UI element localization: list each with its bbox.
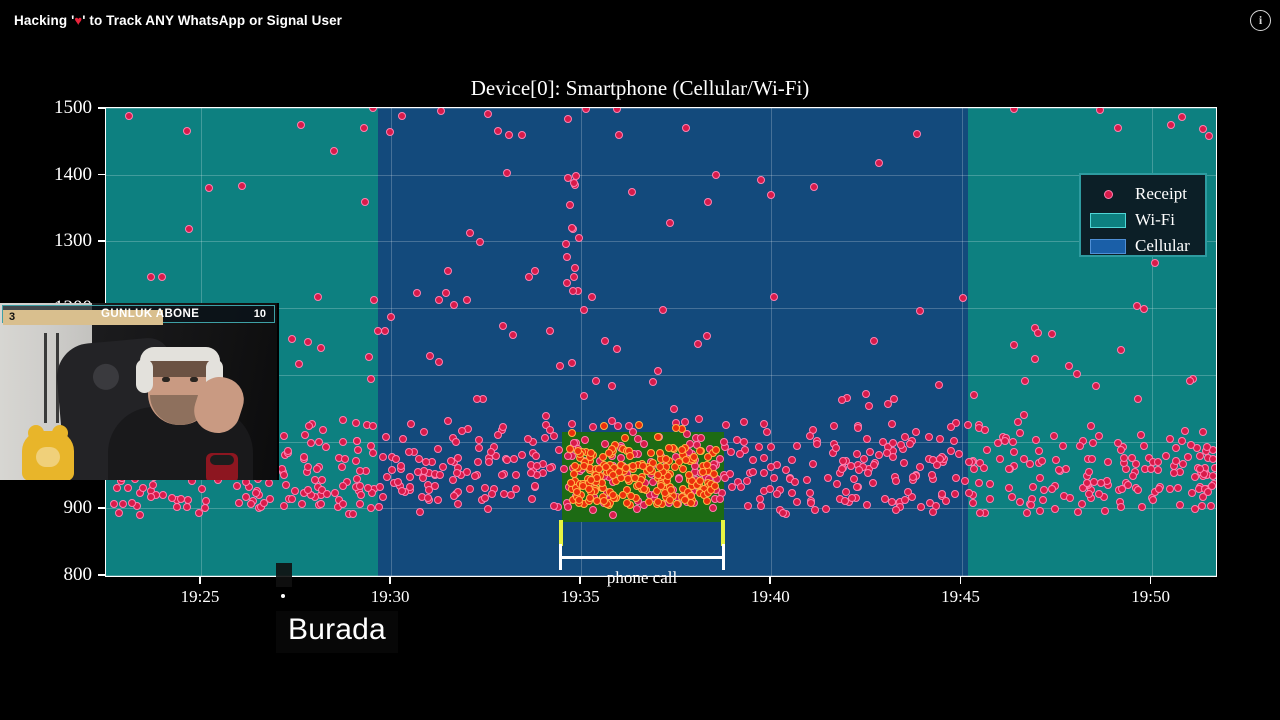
- scatter-point: [487, 448, 495, 456]
- scatter-point: [505, 131, 513, 139]
- scatter-point: [532, 452, 540, 460]
- scatter-point: [952, 474, 960, 482]
- scatter-point: [892, 506, 900, 514]
- scatter-point: [1074, 508, 1082, 516]
- cam-teddy-ear-right: [52, 425, 68, 441]
- scatter-point: [712, 171, 720, 179]
- scatter-point: [654, 471, 662, 479]
- scatter-point: [602, 463, 610, 471]
- scatter-point: [981, 426, 989, 434]
- scatter-point: [1178, 437, 1186, 445]
- scatter-point: [1101, 507, 1109, 515]
- scatter-point: [1172, 457, 1180, 465]
- scatter-point: [1031, 355, 1039, 363]
- bracket-tick-left: [559, 544, 562, 570]
- scatter-point: [233, 482, 241, 490]
- y-axis-tick-mark: [98, 107, 105, 109]
- scatter-point: [862, 390, 870, 398]
- scatter-point: [323, 490, 331, 498]
- scatter-point: [1009, 438, 1017, 446]
- scatter-point: [356, 467, 364, 475]
- scatter-point: [313, 465, 321, 473]
- legend-marker-receipt: [1089, 190, 1127, 199]
- scatter-point: [450, 492, 458, 500]
- scatter-point: [168, 494, 176, 502]
- scatter-point: [365, 353, 373, 361]
- x-axis-tick-mark: [199, 577, 201, 584]
- scatter-point: [330, 147, 338, 155]
- scatter-point: [838, 396, 846, 404]
- scatter-point: [434, 496, 442, 504]
- scatter-point: [635, 421, 643, 429]
- scatter-point: [1048, 485, 1056, 493]
- scatter-point: [352, 419, 360, 427]
- scatter-point: [367, 375, 375, 383]
- video-title-prefix: Hacking ': [14, 13, 74, 28]
- scatter-point: [582, 107, 590, 113]
- scatter-point: [1032, 436, 1040, 444]
- scatter-point: [426, 352, 434, 360]
- scatter-point: [833, 480, 841, 488]
- scatter-point: [1016, 498, 1024, 506]
- scatter-point: [364, 484, 372, 492]
- scatter-point: [1088, 455, 1096, 463]
- scatter-point: [349, 510, 357, 518]
- scatter-point: [369, 422, 377, 430]
- bracket-stub-left: [559, 520, 563, 546]
- scatter-point: [1155, 485, 1163, 493]
- scatter-point: [416, 508, 424, 516]
- x-axis-tick-mark: [769, 577, 771, 584]
- caption-text: Burada: [288, 613, 386, 646]
- scatter-point: [854, 424, 862, 432]
- cam-headphone-cup-left: [136, 359, 153, 393]
- scatter-point: [1027, 501, 1035, 509]
- scatter-point: [589, 506, 597, 514]
- scatter-point: [1203, 443, 1211, 451]
- cam-teddy-bear: [22, 431, 74, 480]
- scatter-point: [147, 493, 155, 501]
- scatter-point: [782, 466, 790, 474]
- scatter-point: [587, 449, 595, 457]
- scatter-point: [556, 362, 564, 370]
- scatter-point: [1179, 460, 1187, 468]
- scatter-point: [667, 486, 675, 494]
- scatter-point: [399, 435, 407, 443]
- scatter-point: [388, 466, 396, 474]
- scatter-point: [704, 198, 712, 206]
- scatter-point: [413, 289, 421, 297]
- scatter-point: [398, 112, 406, 120]
- scatter-point: [654, 498, 662, 506]
- scatter-point: [436, 471, 444, 479]
- scatter-point: [301, 431, 309, 439]
- scatter-point: [773, 490, 781, 498]
- legend-label-cellular: Cellular: [1127, 236, 1190, 256]
- scatter-point: [1076, 442, 1084, 450]
- scatter-point: [498, 471, 506, 479]
- scatter-point: [1138, 503, 1146, 511]
- scatter-point: [925, 433, 933, 441]
- scatter-point: [473, 395, 481, 403]
- scatter-point: [1134, 486, 1142, 494]
- scatter-point: [666, 219, 674, 227]
- scatter-point: [1204, 488, 1212, 496]
- scatter-point: [531, 482, 539, 490]
- scatter-point: [976, 509, 984, 517]
- scatter-point: [595, 465, 603, 473]
- scatter-point: [555, 446, 563, 454]
- y-axis-tick-label: 800: [2, 564, 92, 586]
- scatter-point: [524, 435, 532, 443]
- scatter-point: [975, 479, 983, 487]
- scatter-point: [964, 421, 972, 429]
- scatter-point: [609, 471, 617, 479]
- scatter-point: [656, 463, 664, 471]
- scatter-point: [892, 477, 900, 485]
- scatter-point: [300, 453, 308, 461]
- scatter-point: [398, 487, 406, 495]
- x-axis-tick-mark: [1150, 577, 1152, 584]
- scatter-point: [475, 444, 483, 452]
- scatter-point: [1010, 448, 1018, 456]
- scatter-point: [314, 293, 322, 301]
- scatter-point: [678, 446, 686, 454]
- y-axis-tick-label: 900: [2, 497, 92, 519]
- scatter-point: [452, 438, 460, 446]
- scatter-point: [682, 456, 690, 464]
- scatter-point: [613, 345, 621, 353]
- y-axis-tick-mark: [98, 574, 105, 576]
- bracket-tick-right: [722, 544, 725, 570]
- subscriber-goal-banner: 3 GUNLUK ABONE 10: [2, 305, 275, 323]
- video-title-suffix: ' to Track ANY WhatsApp or Signal User: [82, 13, 342, 28]
- y-axis-tick-label: 1300: [2, 230, 92, 252]
- scatter-point: [1149, 496, 1157, 504]
- scatter-point: [1066, 494, 1074, 502]
- bracket-stub-right: [721, 520, 725, 546]
- scatter-point: [449, 476, 457, 484]
- scatter-point: [488, 490, 496, 498]
- scatter-point: [755, 443, 763, 451]
- scatter-point: [720, 438, 728, 446]
- scatter-point: [609, 511, 617, 519]
- scatter-point: [1209, 455, 1217, 463]
- scatter-point: [740, 438, 748, 446]
- legend-label-receipt: Receipt: [1127, 184, 1187, 204]
- cam-eye-right: [190, 377, 198, 382]
- scatter-point: [626, 452, 634, 460]
- scatter-point: [435, 296, 443, 304]
- scatter-point: [405, 448, 413, 456]
- scatter-point: [810, 183, 818, 191]
- scatter-point: [916, 307, 924, 315]
- scatter-point: [307, 439, 315, 447]
- scatter-point: [756, 495, 764, 503]
- scatter-point: [1181, 427, 1189, 435]
- scatter-point: [360, 124, 368, 132]
- scatter-point: [629, 462, 637, 470]
- scatter-point: [1140, 305, 1148, 313]
- scatter-point: [955, 450, 963, 458]
- scatter-point: [560, 465, 568, 473]
- scatter-point: [546, 426, 554, 434]
- scatter-point: [475, 436, 483, 444]
- scatter-point: [647, 449, 655, 457]
- scatter-point: [657, 482, 665, 490]
- scatter-point: [339, 500, 347, 508]
- scatter-point: [830, 422, 838, 430]
- scatter-point: [1166, 435, 1174, 443]
- x-axis-tick-label: 19:45: [941, 587, 980, 607]
- scatter-point: [1065, 362, 1073, 370]
- scatter-point: [654, 367, 662, 375]
- bracket-bar: [559, 556, 725, 559]
- scatter-point: [367, 442, 375, 450]
- scatter-point: [1187, 441, 1195, 449]
- scatter-point: [484, 110, 492, 118]
- scatter-point: [444, 267, 452, 275]
- chart-legend: Receipt Wi-Fi Cellular: [1079, 173, 1207, 257]
- x-axis-tick-label: 19:35: [561, 587, 600, 607]
- cam-door-handle-left: [44, 333, 47, 423]
- scatter-point: [1211, 464, 1217, 472]
- scatter-point: [779, 509, 787, 517]
- scatter-point: [965, 458, 973, 466]
- scatter-point: [935, 381, 943, 389]
- scatter-point: [542, 412, 550, 420]
- x-axis-tick-label: 19:50: [1131, 587, 1170, 607]
- legend-item-receipt: Receipt: [1089, 181, 1197, 207]
- scatter-point: [382, 433, 390, 441]
- scatter-point: [1001, 437, 1009, 445]
- y-axis-tick-label: 1500: [2, 97, 92, 119]
- scatter-point: [284, 447, 292, 455]
- scatter-point: [1176, 501, 1184, 509]
- scatter-point: [906, 440, 914, 448]
- video-title-overlay: Hacking '♥' to Track ANY WhatsApp or Sig…: [14, 13, 342, 28]
- scatter-point: [288, 335, 296, 343]
- scatter-point: [125, 112, 133, 120]
- scatter-point: [531, 267, 539, 275]
- scatter-point: [1085, 468, 1093, 476]
- scatter-point: [1052, 456, 1060, 464]
- scatter-point: [128, 499, 136, 507]
- scatter-point: [1036, 474, 1044, 482]
- scatter-point: [568, 420, 576, 428]
- scatter-point: [447, 457, 455, 465]
- scatter-point: [562, 240, 570, 248]
- scatter-point: [1023, 509, 1031, 517]
- scatter-point: [736, 450, 744, 458]
- scatter-point: [317, 344, 325, 352]
- horizontal-gridline: [106, 108, 1216, 109]
- scatter-point: [510, 455, 518, 463]
- scatter-point: [357, 491, 365, 499]
- scatter-point: [970, 391, 978, 399]
- scatter-point: [875, 451, 883, 459]
- legend-item-wifi: Wi-Fi: [1089, 207, 1197, 233]
- scatter-point: [500, 490, 508, 498]
- phone-call-label: phone call: [559, 568, 725, 588]
- caption-dot: [281, 594, 285, 598]
- chart-title: Device[0]: Smartphone (Cellular/Wi-Fi): [0, 76, 1280, 101]
- scatter-point: [917, 503, 925, 511]
- scatter-point: [571, 264, 579, 272]
- scatter-point: [113, 484, 121, 492]
- scatter-point: [339, 416, 347, 424]
- y-axis-tick-mark: [98, 240, 105, 242]
- scatter-point: [503, 456, 511, 464]
- scatter-point: [839, 457, 847, 465]
- scatter-point: [986, 480, 994, 488]
- scatter-point: [280, 432, 288, 440]
- scatter-point: [1005, 484, 1013, 492]
- scatter-point: [407, 420, 415, 428]
- scatter-point: [356, 500, 364, 508]
- scatter-point: [1151, 259, 1159, 267]
- scatter-point: [897, 441, 905, 449]
- scatter-point: [1078, 500, 1086, 508]
- scatter-point: [600, 422, 608, 430]
- scatter-point: [124, 484, 132, 492]
- scatter-point: [936, 435, 944, 443]
- scatter-point: [640, 440, 648, 448]
- scatter-point: [1051, 505, 1059, 513]
- scatter-point: [601, 337, 609, 345]
- scatter-point: [685, 471, 693, 479]
- x-axis-tick-label: 19:40: [751, 587, 790, 607]
- scatter-point: [568, 224, 576, 232]
- scatter-point: [494, 127, 502, 135]
- scatter-point: [581, 436, 589, 444]
- scatter-point: [1034, 329, 1042, 337]
- scatter-point: [1196, 465, 1204, 473]
- caption-cursor-block: [276, 563, 292, 587]
- scatter-point: [158, 273, 166, 281]
- scatter-point: [1087, 422, 1095, 430]
- scatter-point: [1092, 382, 1100, 390]
- scatter-point: [770, 474, 778, 482]
- scatter-point: [1199, 125, 1207, 133]
- scatter-point: [621, 434, 629, 442]
- scatter-point: [760, 420, 768, 428]
- legend-marker-cellular: [1089, 239, 1127, 254]
- scatter-point: [1095, 490, 1103, 498]
- vertical-gridline: [962, 108, 963, 576]
- scatter-point: [494, 431, 502, 439]
- scatter-point: [721, 474, 729, 482]
- scatter-point: [1209, 472, 1217, 480]
- scatter-point: [442, 289, 450, 297]
- y-axis-tick-mark: [98, 507, 105, 509]
- scatter-point: [888, 498, 896, 506]
- horizontal-gridline: [106, 175, 1216, 176]
- scatter-point: [386, 128, 394, 136]
- x-axis-tick-label: 19:25: [181, 587, 220, 607]
- scatter-point: [690, 453, 698, 461]
- scatter-point: [1184, 453, 1192, 461]
- scatter-point: [564, 503, 572, 511]
- scatter-point: [853, 483, 861, 491]
- subscriber-goal-label: GUNLUK ABONE: [101, 308, 199, 320]
- scatter-point: [110, 500, 118, 508]
- scatter-point: [466, 485, 474, 493]
- scatter-point: [803, 476, 811, 484]
- scatter-point: [1128, 454, 1136, 462]
- scatter-point: [260, 499, 268, 507]
- scatter-point: [1036, 507, 1044, 515]
- caption-overlay: Burada: [276, 611, 398, 653]
- scatter-point: [811, 506, 819, 514]
- scatter-point: [1118, 485, 1126, 493]
- scatter-point: [564, 452, 572, 460]
- scatter-point: [458, 427, 466, 435]
- scatter-point: [183, 127, 191, 135]
- subscriber-goal-current: 3: [9, 310, 15, 325]
- horizontal-gridline: [106, 241, 1216, 242]
- video-player-stage: Hacking '♥' to Track ANY WhatsApp or Sig…: [0, 0, 1280, 720]
- cam-drink-can-top: [210, 455, 234, 465]
- scatter-point: [695, 415, 703, 423]
- scatter-point: [832, 444, 840, 452]
- scatter-point: [512, 471, 520, 479]
- scatter-point: [589, 423, 597, 431]
- cam-teddy-face: [36, 447, 60, 467]
- vertical-gridline: [391, 108, 392, 576]
- scatter-point: [913, 130, 921, 138]
- scatter-point: [696, 477, 704, 485]
- scatter-point: [383, 473, 391, 481]
- scatter-point: [863, 435, 871, 443]
- scatter-point: [361, 198, 369, 206]
- scatter-point: [1174, 484, 1182, 492]
- scatter-point: [183, 503, 191, 511]
- vertical-gridline: [771, 108, 772, 576]
- cam-teddy-ear-left: [28, 425, 44, 441]
- scatter-point: [909, 473, 917, 481]
- subscriber-goal-target: 10: [254, 308, 266, 320]
- scatter-point: [673, 500, 681, 508]
- scatter-point: [614, 422, 622, 430]
- scatter-point: [1117, 346, 1125, 354]
- scatter-point: [1170, 469, 1178, 477]
- x-axis-tick-mark: [389, 577, 391, 584]
- scatter-point: [703, 497, 711, 505]
- webcam-overlay: 3 GUNLUK ABONE 10: [0, 303, 279, 480]
- scatter-point: [965, 489, 973, 497]
- scatter-point: [568, 429, 576, 437]
- cam-drink-can: [206, 453, 238, 480]
- scatter-point: [339, 438, 347, 446]
- scatter-point: [1154, 458, 1162, 466]
- scatter-point: [136, 511, 144, 519]
- scatter-point: [986, 495, 994, 503]
- scatter-point: [139, 484, 147, 492]
- scatter-point: [569, 287, 577, 295]
- info-icon[interactable]: i: [1250, 10, 1271, 31]
- scatter-point: [315, 438, 323, 446]
- scatter-point: [177, 495, 185, 503]
- scatter-point: [961, 477, 969, 485]
- scatter-point: [566, 201, 574, 209]
- scatter-point: [760, 469, 768, 477]
- scatter-point: [1196, 452, 1204, 460]
- scatter-point: [737, 483, 745, 491]
- scatter-point: [1040, 486, 1048, 494]
- scatter-point: [889, 439, 897, 447]
- scatter-point: [454, 500, 462, 508]
